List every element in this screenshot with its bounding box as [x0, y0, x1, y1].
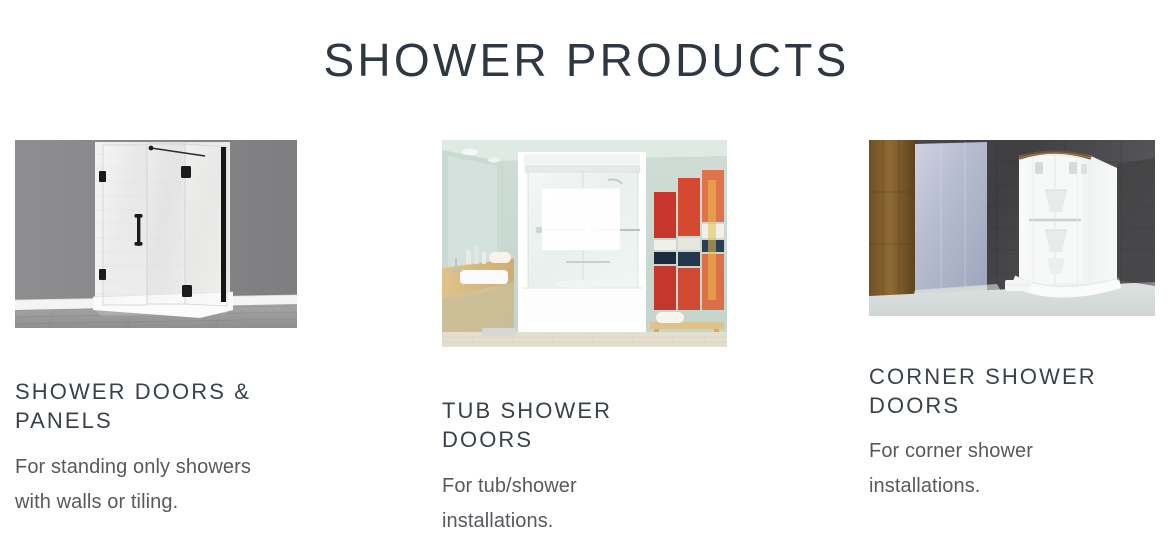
product-heading: TUB SHOWER DOORS — [442, 396, 672, 454]
product-heading: CORNER SHOWER DOORS — [869, 362, 1139, 420]
product-image-corner-shower-doors[interactable] — [869, 140, 1155, 316]
product-card-corner-shower-doors[interactable]: CORNER SHOWER DOORS For corner shower in… — [869, 0, 1155, 558]
product-description: For standing only showers with walls or … — [15, 450, 277, 520]
product-card-tub-shower-doors[interactable]: TUB SHOWER DOORS For tub/shower installa… — [442, 0, 727, 558]
product-heading: SHOWER DOORS & PANELS — [15, 377, 295, 435]
product-image-shower-doors-panels[interactable] — [15, 140, 297, 328]
product-image-tub-shower-doors[interactable] — [442, 140, 727, 347]
product-description: For corner shower installations. — [869, 434, 1119, 504]
product-description: For tub/shower installations. — [442, 469, 692, 539]
product-grid: SHOWER DOORS & PANELS For standing only … — [0, 0, 1173, 558]
product-card-shower-doors-panels[interactable]: SHOWER DOORS & PANELS For standing only … — [15, 0, 297, 558]
